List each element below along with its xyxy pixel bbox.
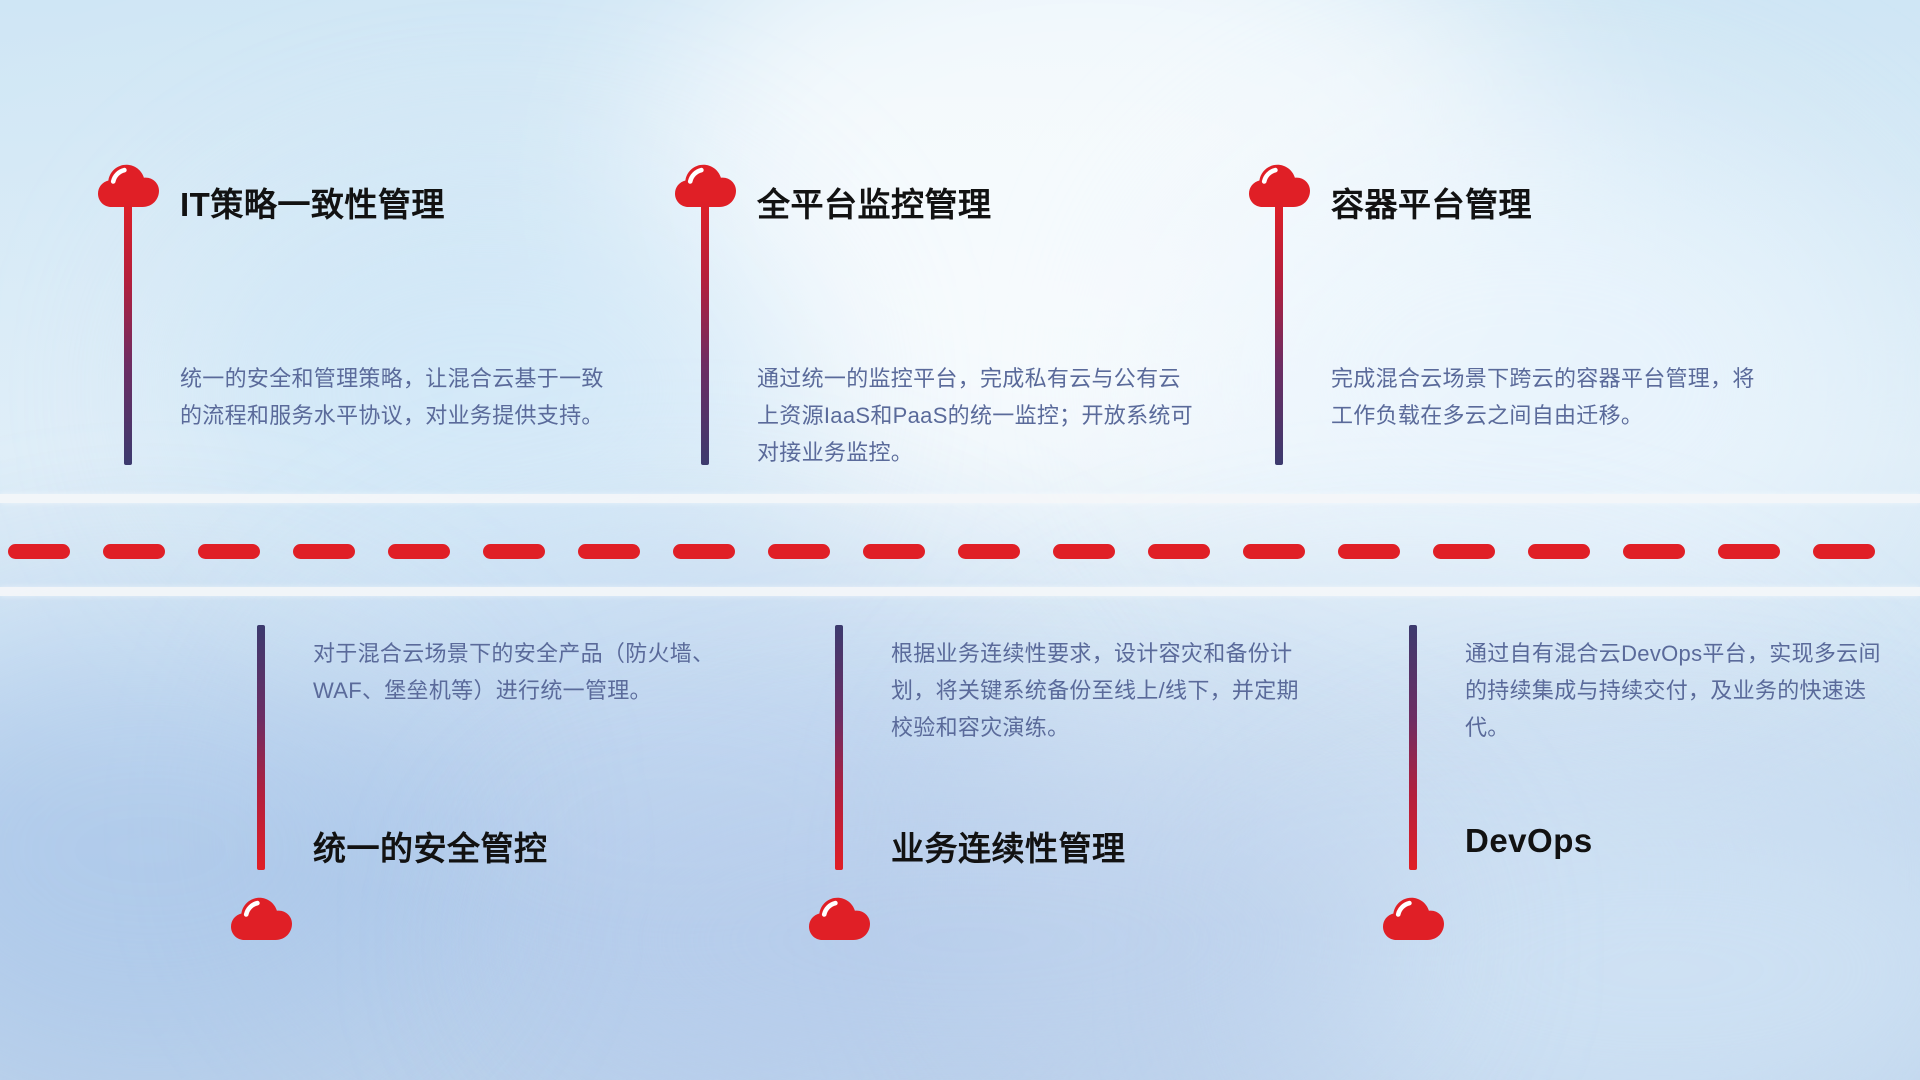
road-dash	[958, 544, 1020, 559]
column-stem	[835, 625, 843, 870]
road-dash	[8, 544, 70, 559]
road-dash	[388, 544, 450, 559]
road-dash	[103, 544, 165, 559]
road-dash	[1528, 544, 1590, 559]
cloud-icon	[808, 893, 870, 941]
road-dash	[768, 544, 830, 559]
top-column-1-body: 统一的安全和管理策略，让混合云基于一致的流程和服务水平协议，对业务提供支持。	[180, 360, 620, 434]
road-dash	[578, 544, 640, 559]
road-dash	[1433, 544, 1495, 559]
road-edge-line-top	[0, 494, 1920, 503]
road-dash	[1718, 544, 1780, 559]
column-stem	[124, 200, 132, 465]
road-dash	[673, 544, 735, 559]
road-dash	[198, 544, 260, 559]
column-stem	[1409, 625, 1417, 870]
column-stem	[701, 200, 709, 465]
road-center-dashes	[0, 543, 1920, 559]
cloud-icon	[230, 893, 292, 941]
infographic-canvas: IT策略一致性管理 统一的安全和管理策略，让混合云基于一致的流程和服务水平协议，…	[0, 0, 1920, 1080]
cloud-icon	[1382, 893, 1444, 941]
road-dash	[483, 544, 545, 559]
road-edge-line-bottom	[0, 587, 1920, 596]
road-dash	[1623, 544, 1685, 559]
top-column-3-body: 完成混合云场景下跨云的容器平台管理，将工作负载在多云之间自由迁移。	[1331, 360, 1761, 434]
top-column-2-body: 通过统一的监控平台，完成私有云与公有云上资源IaaS和PaaS的统一监控；开放系…	[757, 360, 1197, 471]
road-dash	[1053, 544, 1115, 559]
road-dash	[1148, 544, 1210, 559]
bottom-column-2-body: 根据业务连续性要求，设计容灾和备份计划，将关键系统备份至线上/线下，并定期校验和…	[891, 635, 1321, 746]
road-dash	[1813, 544, 1875, 559]
column-stem	[257, 625, 265, 870]
bottom-column-1-title: 统一的安全管控	[313, 822, 548, 870]
top-column-3-title: 容器平台管理	[1331, 178, 1532, 226]
road-dash	[1338, 544, 1400, 559]
road-dash	[863, 544, 925, 559]
bottom-column-3-body: 通过自有混合云DevOps平台，实现多云间的持续集成与持续交付，及业务的快速迭代…	[1465, 635, 1885, 746]
bottom-column-1-body: 对于混合云场景下的安全产品（防火墙、WAF、堡垒机等）进行统一管理。	[313, 635, 743, 709]
top-column-2-title: 全平台监控管理	[757, 178, 992, 226]
bottom-column-2-title: 业务连续性管理	[891, 822, 1126, 870]
road-dash	[293, 544, 355, 559]
top-column-1-title: IT策略一致性管理	[180, 178, 445, 226]
road-dash	[1243, 544, 1305, 559]
column-stem	[1275, 200, 1283, 465]
bottom-column-3-title: DevOps	[1465, 822, 1593, 860]
